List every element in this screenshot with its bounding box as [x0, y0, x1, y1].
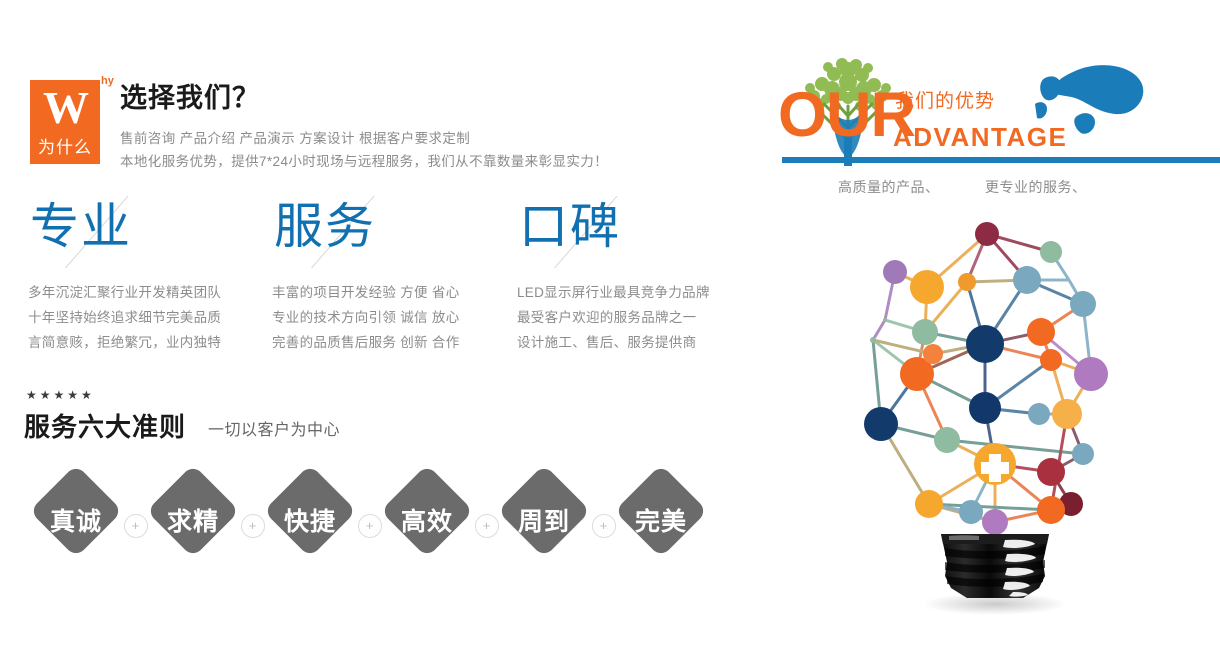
feature-column-service: 服务 丰富的项目开发经验 方便 省心 专业的技术方向引领 诚信 放心 完善的品质…: [272, 196, 512, 366]
feature-heading: 专业: [30, 196, 132, 260]
feature-body-line: 设计施工、售后、服务提供商: [517, 330, 757, 355]
feature-body: 多年沉淀汇聚行业开发精英团队 十年坚持始终追求细节完美品质 言简意赅，拒绝繁冗，…: [28, 280, 268, 355]
advantage-infographic: W 为什么 hy 选择我们？ 售前咨询 产品介绍 产品演示 方案设计 根据客户要…: [0, 0, 1220, 670]
our-advantage-panel: OUR 我们的优势 ADVANTAGE 高质量的产品、 更专业的服务、: [770, 0, 1220, 670]
feature-body: 丰富的项目开发经验 方便 省心 专业的技术方向引领 诚信 放心 完善的品质售后服…: [272, 280, 512, 355]
feature-body-line: 完善的品质售后服务 创新 合作: [272, 330, 512, 355]
feature-columns: 专业 多年沉淀汇聚行业开发精英团队 十年坚持始终追求细节完美品质 言简意赅，拒绝…: [0, 196, 770, 366]
feature-body-line: 最受客户欢迎的服务品牌之一: [517, 305, 757, 330]
feature-heading-wrap: 服务: [272, 196, 472, 268]
principle-label: 完美: [601, 507, 721, 537]
principle-label: 求精: [133, 507, 253, 537]
principle-label: 高效: [367, 507, 487, 537]
header-subline-1: 售前咨询 产品介绍 产品演示 方案设计 根据客户要求定制: [120, 129, 470, 148]
feature-body-line: 十年坚持始终追求细节完美品质: [28, 305, 268, 330]
feature-heading-wrap: 口碑: [517, 196, 717, 268]
principle-label: 周到: [484, 507, 604, 537]
principles-title: 服务六大准则: [24, 410, 186, 444]
why-logo-label: 为什么: [30, 138, 100, 158]
feature-body: LED显示屏行业最具竞争力品牌 最受客户欢迎的服务品牌之一 设计施工、售后、服务…: [517, 280, 757, 355]
feature-heading: 服务: [274, 196, 376, 260]
why-logo-badge: W 为什么: [30, 80, 100, 164]
feature-body-line: 丰富的项目开发经验 方便 省心: [272, 280, 512, 305]
why-logo-mark: W: [30, 82, 100, 134]
why-choose-us-panel: W 为什么 hy 选择我们？ 售前咨询 产品介绍 产品演示 方案设计 根据客户要…: [0, 0, 770, 670]
our-advantage-cn: 我们的优势: [895, 90, 995, 114]
principle-label: 快捷: [250, 507, 370, 537]
page-title: 选择我们？: [120, 82, 260, 114]
header-subline-2: 本地化服务优势，提供7*24小时现场与远程服务，我们从不靠数量来彰显实力！: [120, 152, 608, 171]
feature-column-professional: 专业 多年沉淀汇聚行业开发精英团队 十年坚持始终追求细节完美品质 言简意赅，拒绝…: [28, 196, 268, 366]
feature-body-line: 多年沉淀汇聚行业开发精英团队: [28, 280, 268, 305]
feature-body-line: 专业的技术方向引领 诚信 放心: [272, 305, 512, 330]
feature-heading: 口碑: [519, 196, 621, 260]
feature-body-line: 言简意赅，拒绝繁冗，业内独特: [28, 330, 268, 355]
why-logo-superscript: hy: [101, 76, 114, 87]
our-advantage-en: ADVANTAGE: [893, 122, 1067, 152]
blue-divider: [782, 157, 1220, 163]
feature-body-line: LED显示屏行业最具竞争力品牌: [517, 280, 757, 305]
star-rating-icon: ★★★★★: [26, 389, 95, 401]
bulb-screw-base: [923, 534, 1067, 615]
principles-diamond-row: 真诚+求精+快捷+高效+周到+完美: [18, 466, 738, 582]
principle-label: 真诚: [16, 507, 136, 537]
feature-heading-wrap: 专业: [28, 196, 228, 268]
principles-subtitle: 一切以客户为中心: [208, 419, 340, 443]
feature-column-reputation: 口碑 LED显示屏行业最具竞争力品牌 最受客户欢迎的服务品牌之一 设计施工、售后…: [517, 196, 757, 366]
lightbulb-network-illustration: [855, 192, 1135, 622]
